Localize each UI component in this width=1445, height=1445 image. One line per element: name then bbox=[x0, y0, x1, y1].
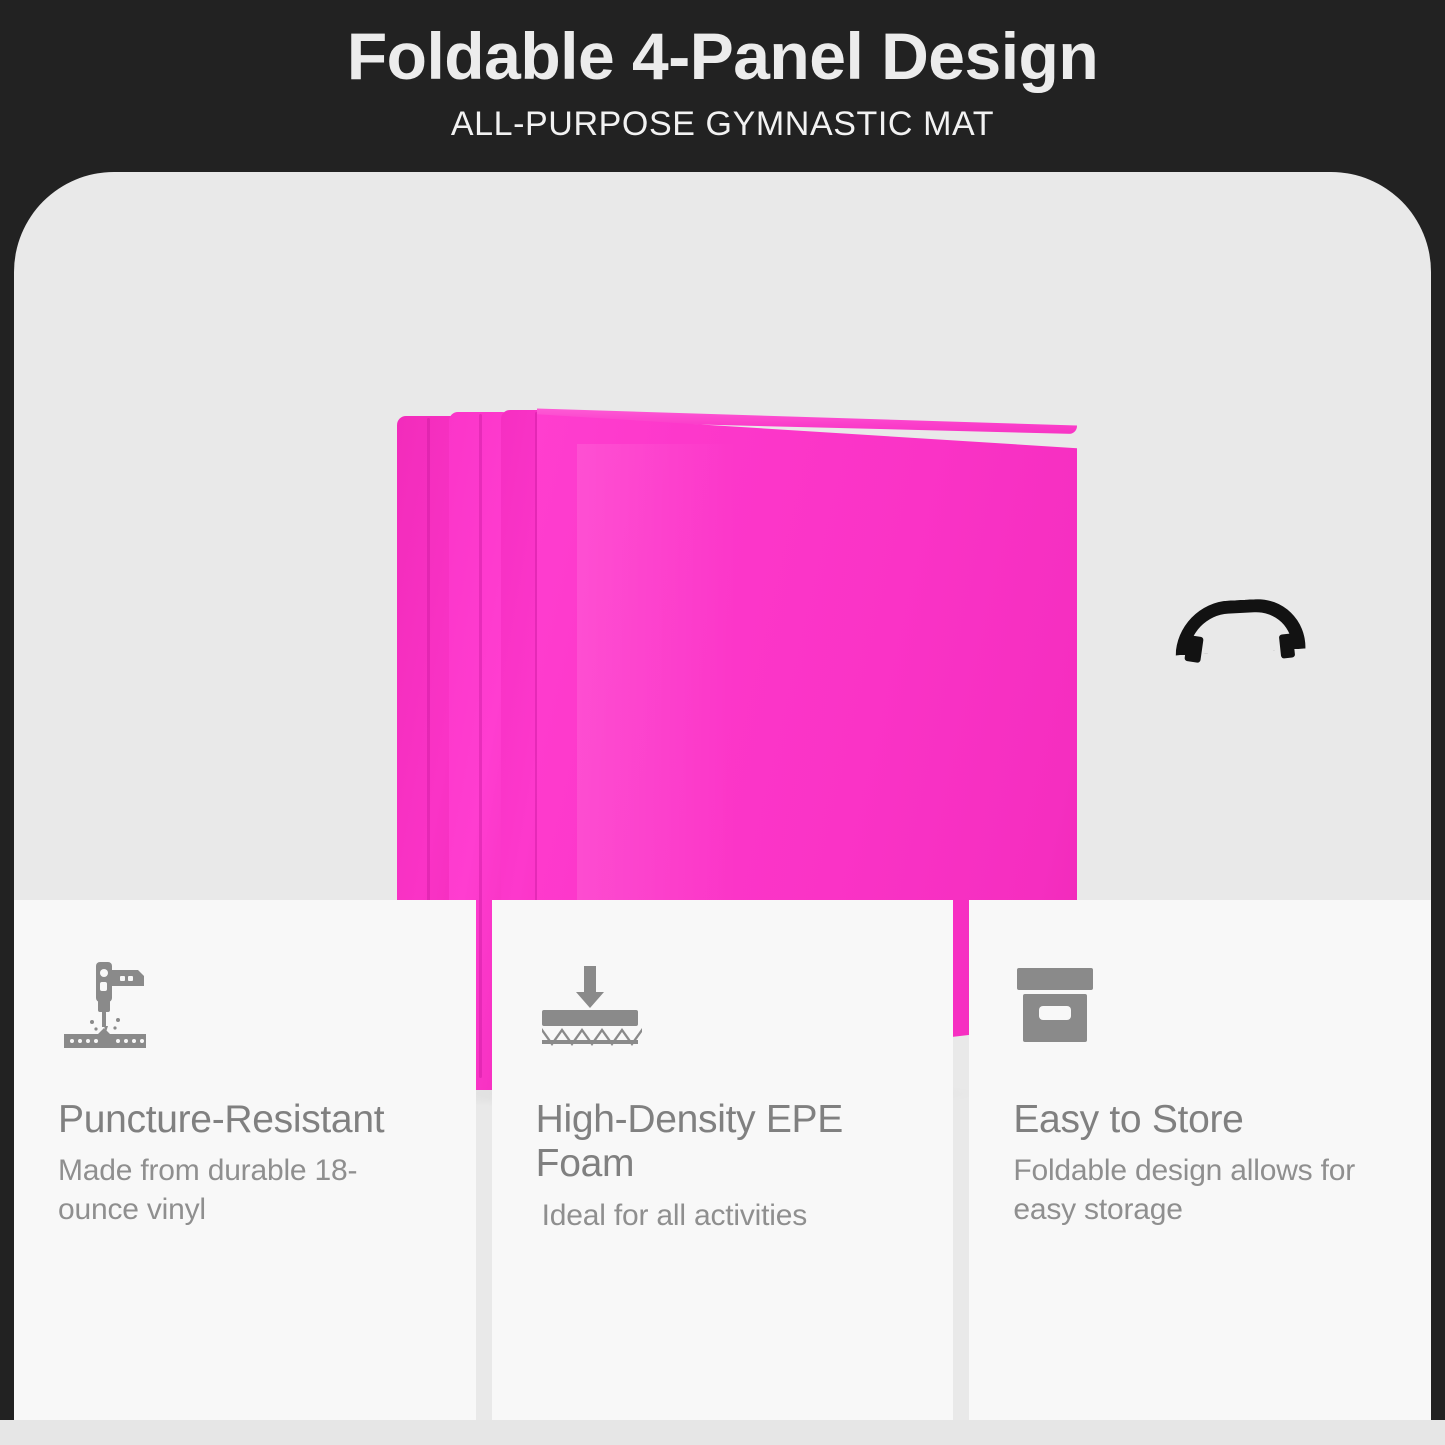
bottom-strip bbox=[0, 1420, 1445, 1445]
feature-card-high-density-foam: High-Density EPE Foam Ideal for all acti… bbox=[492, 900, 954, 1420]
page-subtitle: ALL-PURPOSE GYMNASTIC MAT bbox=[451, 105, 994, 144]
feature-card-easy-to-store: Easy to Store Foldable design allows for… bbox=[969, 900, 1431, 1420]
header: Foldable 4-Panel Design ALL-PURPOSE GYMN… bbox=[0, 0, 1445, 180]
storage-box-icon bbox=[1013, 956, 1123, 1052]
feature-description: Made from durable 18-ounce vinyl bbox=[58, 1152, 432, 1229]
foam-compression-icon bbox=[536, 956, 646, 1052]
feature-description: Foldable design allows for easy storage bbox=[1013, 1152, 1387, 1229]
handle-tab-right bbox=[1279, 633, 1295, 658]
handle-tab-left bbox=[1184, 635, 1203, 663]
feature-description: Ideal for all activities bbox=[536, 1197, 910, 1235]
feature-cards: Puncture-Resistant Made from durable 18-… bbox=[14, 900, 1431, 1420]
puncture-drill-icon bbox=[58, 956, 168, 1052]
feature-card-puncture-resistant: Puncture-Resistant Made from durable 18-… bbox=[14, 900, 476, 1420]
infographic-page: Foldable 4-Panel Design ALL-PURPOSE GYMN… bbox=[0, 0, 1445, 1445]
feature-title: Easy to Store bbox=[1013, 1098, 1387, 1142]
feature-title: High-Density EPE Foam bbox=[536, 1098, 910, 1187]
feature-title: Puncture-Resistant bbox=[58, 1098, 432, 1142]
page-title: Foldable 4-Panel Design bbox=[347, 22, 1098, 91]
carry-handle-icon bbox=[1176, 600, 1306, 656]
